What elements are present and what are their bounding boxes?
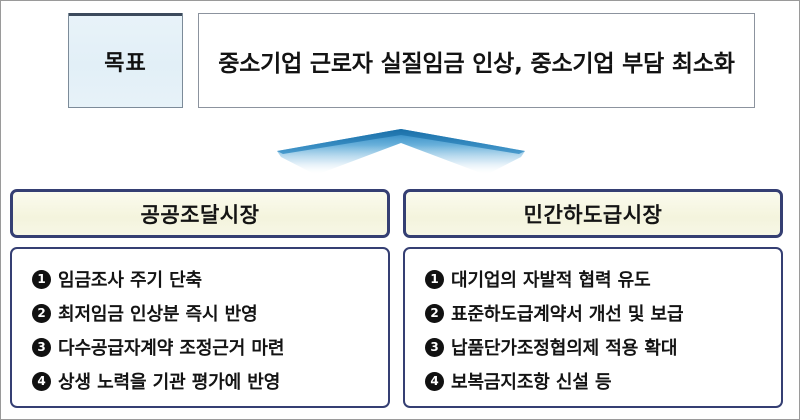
list-item: 2 최저임금 인상분 즉시 반영: [32, 296, 388, 330]
list-item: 1 대기업의 자발적 협력 유도: [425, 262, 781, 296]
column-header-left-text: 공공조달시장: [141, 199, 260, 229]
list-item-text: 상생 노력을 기관 평가에 반영: [58, 368, 280, 394]
column-list-left: 1 임금조사 주기 단축 2 최저임금 인상분 즉시 반영 3 다수공급자계약 …: [10, 247, 390, 408]
list-item-text: 보복금지조항 신설 등: [451, 368, 611, 394]
column-header-right-text: 민간하도급시장: [524, 199, 663, 229]
list-item: 1 임금조사 주기 단축: [32, 262, 388, 296]
list-item: 3 다수공급자계약 조정근거 마련: [32, 330, 388, 364]
goal-label-text: 목표: [104, 45, 146, 77]
list-item: 4 보복금지조항 신설 등: [425, 364, 781, 398]
list-item-text: 최저임금 인상분 즉시 반영: [58, 300, 258, 326]
column-private-subcontract: 민간하도급시장 1 대기업의 자발적 협력 유도 2 표준하도급계약서 개선 및…: [403, 189, 783, 408]
bullet-number-icon: 3: [425, 338, 444, 357]
column-header-right: 민간하도급시장: [403, 189, 783, 238]
list-item: 3 납품단가조정협의제 적용 확대: [425, 330, 781, 364]
goal-label-box: 목표: [68, 13, 183, 108]
list-item-text: 납품단가조정협의제 적용 확대: [451, 334, 677, 360]
down-chevron-icon: [271, 127, 531, 179]
list-item-text: 대기업의 자발적 협력 유도: [451, 266, 651, 292]
flow-connector: [271, 127, 531, 179]
column-header-left: 공공조달시장: [10, 189, 390, 238]
bullet-number-icon: 2: [32, 304, 51, 323]
list-item: 2 표준하도급계약서 개선 및 보급: [425, 296, 781, 330]
bullet-number-icon: 3: [32, 338, 51, 357]
list-item-text: 다수공급자계약 조정근거 마련: [58, 334, 284, 360]
list-item-text: 임금조사 주기 단축: [58, 266, 202, 292]
list-item: 4 상생 노력을 기관 평가에 반영: [32, 364, 388, 398]
bullet-number-icon: 1: [32, 270, 51, 289]
bullet-number-icon: 4: [32, 372, 51, 391]
bullet-number-icon: 4: [425, 372, 444, 391]
list-item-text: 표준하도급계약서 개선 및 보급: [451, 300, 683, 326]
goal-statement-box: 중소기업 근로자 실질임금 인상, 중소기업 부담 최소화: [198, 13, 755, 108]
diagram-canvas: 목표 중소기업 근로자 실질임금 인상, 중소기업 부담 최소화: [0, 0, 800, 420]
bullet-number-icon: 2: [425, 304, 444, 323]
column-public-procurement: 공공조달시장 1 임금조사 주기 단축 2 최저임금 인상분 즉시 반영 3 다…: [10, 189, 390, 408]
column-list-right: 1 대기업의 자발적 협력 유도 2 표준하도급계약서 개선 및 보급 3 납품…: [403, 247, 783, 408]
bullet-number-icon: 1: [425, 270, 444, 289]
goal-statement-text: 중소기업 근로자 실질임금 인상, 중소기업 부담 최소화: [218, 44, 735, 78]
